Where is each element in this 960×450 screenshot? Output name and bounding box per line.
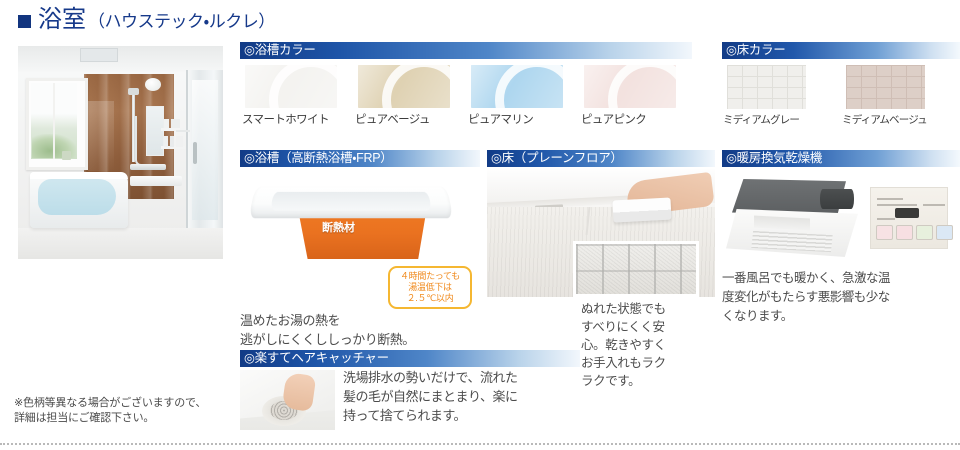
section-tub-color: ◎浴槽カラー スマートホワイト ピュアベージュ — [240, 42, 692, 127]
tub-color-label-3: ピュアピンク — [581, 111, 692, 127]
tub-color-item-1: ピュアベージュ — [353, 65, 466, 127]
section-header-hair-catcher: ◎楽すてヘアキャッチャー — [240, 350, 580, 367]
tub-caption-line-2: 逃がしにくくししっかり断熱。 — [240, 330, 480, 349]
shower-hose — [135, 116, 144, 166]
swatch-gloss — [358, 65, 450, 108]
hair-caption-line-1: 洗場排水の勢いだけで、流れた — [343, 368, 517, 387]
remote-text-line — [877, 218, 895, 220]
heater-caption-line-1: 一番風呂でも暖かく、急激な温 — [722, 269, 960, 288]
wall-light-icon — [145, 78, 161, 91]
faucet — [130, 164, 166, 170]
bathtub-water — [38, 179, 116, 215]
tub-color-swatch-1 — [358, 65, 450, 108]
tile-grid-texture — [727, 65, 806, 109]
section-header-floor: ◎床（プレーンフロア） — [487, 150, 715, 167]
floor-caption-line-5: ラクです。 — [581, 372, 706, 390]
heater-caption: 一番風呂でも暖かく、急激な温 度変化がもたらす悪影響も少な くなります。 — [722, 269, 960, 326]
product-spec-sheet: 浴室 （ハウステック・ルクレ） ※色柄等異なる場合がご — [0, 0, 960, 450]
shower-bench — [130, 176, 182, 186]
bathroom-floor — [18, 228, 223, 259]
floor-color-swatch-1 — [846, 65, 925, 109]
section-floor-color: ◎床カラー ミディアムグレー ミディアムベージュ — [722, 42, 960, 127]
section-header-heater: ◎暖房換気乾燥機 — [722, 150, 960, 167]
disclaimer-line-1: ※色柄等異なる場合がございますので、 — [14, 396, 206, 411]
shelf-cups — [164, 119, 180, 128]
page-title-main: 浴室 — [38, 8, 86, 32]
section-header-tub-color: ◎浴槽カラー — [240, 42, 692, 59]
heat-retention-badge: ４時間たっても 湯温低下は ２.５℃以内 — [388, 266, 472, 309]
badge-line-3: ２.５℃以内 — [392, 293, 468, 304]
tub-caption: 温めたお湯の熱を 逃がしにくくししっかり断熱。 — [240, 311, 480, 349]
tub-color-swatch-row: スマートホワイト ピュアベージュ ピュアマリン — [240, 59, 692, 127]
disclaimer-line-2: 詳細は担当にご確認下さい。 — [14, 411, 206, 426]
floor-color-label-0: ミディアムグレー — [723, 112, 841, 127]
floor-color-swatch-0 — [727, 65, 806, 109]
window-plant — [62, 151, 71, 160]
heater-caption-line-2: 度変化がもたらす悪影響も少な — [722, 288, 960, 307]
section-heater-dryer: ◎暖房換気乾燥機 — [722, 150, 960, 326]
badge-line-1: ４時間たっても — [392, 271, 468, 282]
tub-color-swatch-0 — [245, 65, 337, 108]
remote-display — [895, 208, 919, 218]
tub-color-label-2: ピュアマリン — [468, 111, 579, 127]
towel-bar — [176, 130, 190, 132]
floor-caption-line-4: お手入れもラク — [581, 354, 706, 372]
floor-caption-line-1: ぬれた状態でも — [581, 300, 706, 318]
tile-grid-texture — [846, 65, 925, 109]
section-hair-catcher: ◎楽すてヘアキャッチャー 洗場排水の勢いだけで、流れた 髪の毛が自然にまとまり、… — [240, 350, 580, 430]
heater-unit-photo — [722, 171, 960, 267]
wall-highlight — [88, 101, 114, 171]
remote-button-1 — [876, 225, 893, 240]
bullet-square-icon — [18, 15, 31, 28]
floor-color-label-1: ミディアムベージュ — [842, 112, 960, 127]
bottom-dotted-divider — [0, 443, 960, 445]
remote-button-row — [876, 225, 953, 240]
bathroom-interior-photo — [18, 46, 223, 259]
disclaimer-note: ※色柄等異なる場合がございますので、 詳細は担当にご確認下さい。 — [14, 396, 206, 426]
floor-cleaning-photo — [487, 169, 715, 297]
tub-color-label-1: ピュアベージュ — [355, 111, 466, 127]
hair-catcher-body: 洗場排水の勢いだけで、流れた 髪の毛が自然にまとまり、楽に 持って捨てられます。 — [240, 370, 580, 430]
bathtub-rim — [30, 172, 128, 179]
section-tub-insulation: ◎浴槽（高断熱浴槽・FRP） 断熱材 ４時間たっても 湯温低下は ２.５℃以内 … — [240, 150, 480, 349]
remote-text-line — [923, 204, 945, 206]
tub-color-item-2: ピュアマリン — [466, 65, 579, 127]
shower-head-icon — [128, 88, 139, 95]
section-header-tub: ◎浴槽（高断熱浴槽・FRP） — [240, 150, 480, 167]
tub-caption-line-1: 温めたお湯の熱を — [240, 311, 480, 330]
hand-icon — [282, 372, 317, 412]
unit-duct-icon — [820, 189, 854, 209]
sponge-icon — [612, 197, 671, 222]
hair-caption-line-3: 持って捨てられます。 — [343, 406, 517, 425]
swatch-gloss — [471, 65, 563, 108]
ceiling-vent-icon — [80, 48, 118, 62]
door-handle — [193, 142, 197, 164]
tub-color-swatch-3 — [584, 65, 676, 108]
tub-color-item-3: ピュアピンク — [579, 65, 692, 127]
hair-catcher-photo — [240, 370, 335, 430]
tile-closeup-texture — [576, 244, 696, 294]
hair-caption-line-2: 髪の毛が自然にまとまり、楽に — [343, 387, 517, 406]
heater-caption-line-3: くなります。 — [722, 307, 960, 326]
remote-text-line — [877, 204, 917, 206]
floor-tile-closeup-inset — [573, 241, 699, 297]
section-header-floor-color: ◎床カラー — [722, 42, 960, 59]
tub-color-label-0: スマートホワイト — [242, 111, 353, 127]
insulation-label: 断熱材 — [322, 219, 355, 235]
badge-line-2: 湯温低下は — [392, 282, 468, 293]
swatch-gloss — [245, 65, 337, 108]
remote-button-3 — [916, 225, 933, 240]
floor-caption-line-3: 心。乾きやすく — [581, 336, 706, 354]
tub-insulation-illustration: 断熱材 ４時間たっても 湯温低下は ２.５℃以内 — [240, 171, 480, 283]
tub-color-swatch-2 — [471, 65, 563, 108]
floor-color-item-1: ミディアムベージュ — [841, 65, 960, 127]
hair-catcher-caption: 洗場排水の勢いだけで、流れた 髪の毛が自然にまとまり、楽に 持って捨てられます。 — [343, 368, 517, 430]
floor-caption: ぬれた状態でも すべりにくく安 心。乾きやすく お手入れもラク ラクです。 — [581, 300, 706, 390]
remote-text-line — [877, 198, 903, 200]
ceiling-unit — [726, 179, 858, 257]
window-mullion — [53, 83, 55, 159]
floor-color-item-0: ミディアムグレー — [722, 65, 841, 127]
tub-inner-basin — [270, 192, 431, 211]
page-title: 浴室 （ハウステック・ルクレ） — [18, 8, 275, 32]
page-title-sub: （ハウステック・ルクレ） — [88, 13, 275, 30]
remote-button-4 — [936, 225, 953, 240]
swatch-gloss — [584, 65, 676, 108]
remote-control-panel — [870, 187, 948, 249]
tub-color-item-0: スマートホワイト — [240, 65, 353, 127]
floor-caption-line-2: すべりにくく安 — [581, 318, 706, 336]
floor-color-swatch-row: ミディアムグレー ミディアムベージュ — [722, 59, 960, 127]
shelf-bottles — [164, 136, 183, 147]
remote-button-2 — [896, 225, 913, 240]
